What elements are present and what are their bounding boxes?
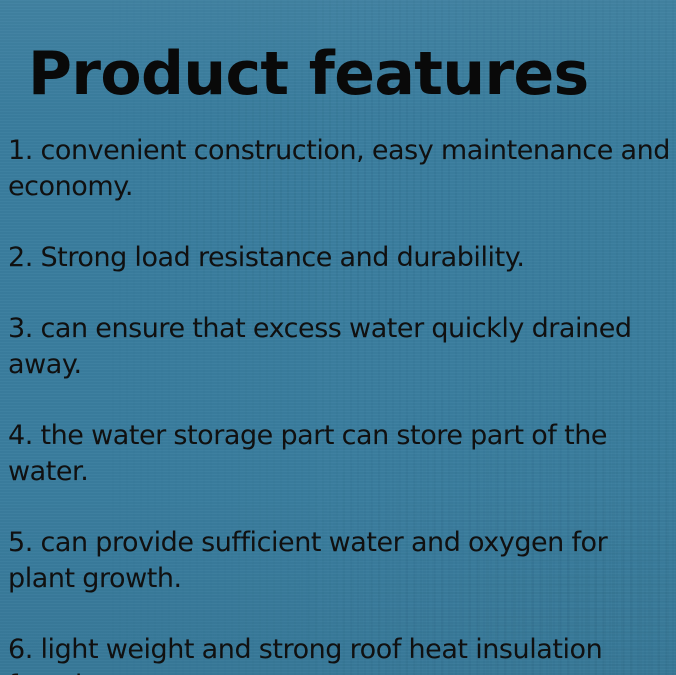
list-item: 1. convenient construction, easy mainten…: [8, 133, 676, 205]
list-item: 6. light weight and strong roof heat ins…: [8, 632, 676, 675]
list-item: 5. can provide sufficient water and oxyg…: [8, 525, 676, 597]
page-title: Product features: [28, 43, 589, 106]
list-item: 3. can ensure that excess water quickly …: [8, 311, 676, 383]
product-features-slide: Product features 1. convenient construct…: [0, 0, 676, 675]
list-item: 2. Strong load resistance and durability…: [8, 240, 676, 276]
list-item: 4. the water storage part can store part…: [8, 418, 676, 490]
features-list: 1. convenient construction, easy mainten…: [8, 133, 676, 675]
